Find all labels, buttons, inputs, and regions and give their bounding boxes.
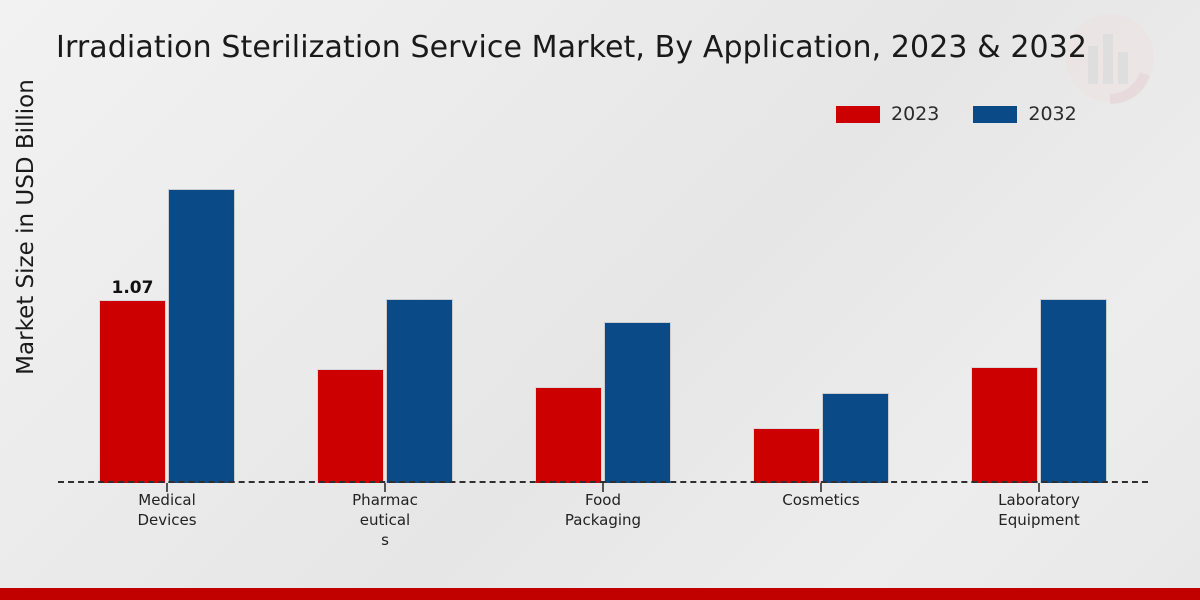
chart-legend: 2023 2032 [836,103,1077,125]
bar-pair: 1.07 [99,150,235,483]
bar-group [930,150,1148,483]
bar-2023[interactable] [971,367,1038,483]
bar-group [276,150,494,483]
bar-2032[interactable] [604,322,671,483]
tick-label-line: Medical [58,490,276,510]
x-axis-tick-label: MedicalDevices [58,490,276,550]
tick-label-line: Cosmetics [712,490,930,510]
x-axis-tick-label: Cosmetics [712,490,930,550]
bar-group [494,150,712,483]
tick-label-line: Devices [58,510,276,530]
bar-2023[interactable] [753,428,820,483]
bar-2023[interactable] [535,387,602,483]
bar-pair [535,150,671,483]
tick-label-line: eutical [276,510,494,530]
plot-area: 1.07 [58,150,1148,483]
bar-2032[interactable] [168,189,235,483]
bar-2023[interactable] [317,369,384,483]
tick-label-line: Packaging [494,510,712,530]
bar-groups: 1.07 [58,150,1148,483]
bar-value-label: 1.07 [112,278,154,298]
tick-label-line: s [276,530,494,550]
x-axis-tick-label: LaboratoryEquipment [930,490,1148,550]
x-axis-tick-labels: MedicalDevicesPharmaceuticalsFoodPackagi… [58,490,1148,550]
bar-2032[interactable] [1040,299,1107,483]
bar-2032[interactable] [386,299,453,483]
tick-label-line: Equipment [930,510,1148,530]
legend-swatch-2023-icon [836,106,880,123]
bar-pair [753,150,889,483]
bar-group: 1.07 [58,150,276,483]
legend-item-2032[interactable]: 2032 [973,103,1076,125]
footer-accent-bar [0,588,1200,600]
chart-canvas: Irradiation Sterilization Service Market… [0,0,1200,600]
legend-item-2023[interactable]: 2023 [836,103,939,125]
bar-pair [971,150,1107,483]
legend-label-2032: 2032 [1028,103,1076,125]
tick-label-line: Laboratory [930,490,1148,510]
bar-pair [317,150,453,483]
x-axis-baseline [58,481,1148,483]
x-axis-tick-label: Pharmaceuticals [276,490,494,550]
bar-2032[interactable] [822,393,889,484]
page-title: Irradiation Sterilization Service Market… [56,30,1087,65]
legend-swatch-2032-icon [973,106,1017,123]
x-axis-tick-label: FoodPackaging [494,490,712,550]
legend-label-2023: 2023 [891,103,939,125]
bar-2023[interactable]: 1.07 [99,300,166,483]
y-axis-label: Market Size in USD Billion [13,47,39,407]
tick-label-line: Pharmac [276,490,494,510]
tick-label-line: Food [494,490,712,510]
bar-group [712,150,930,483]
